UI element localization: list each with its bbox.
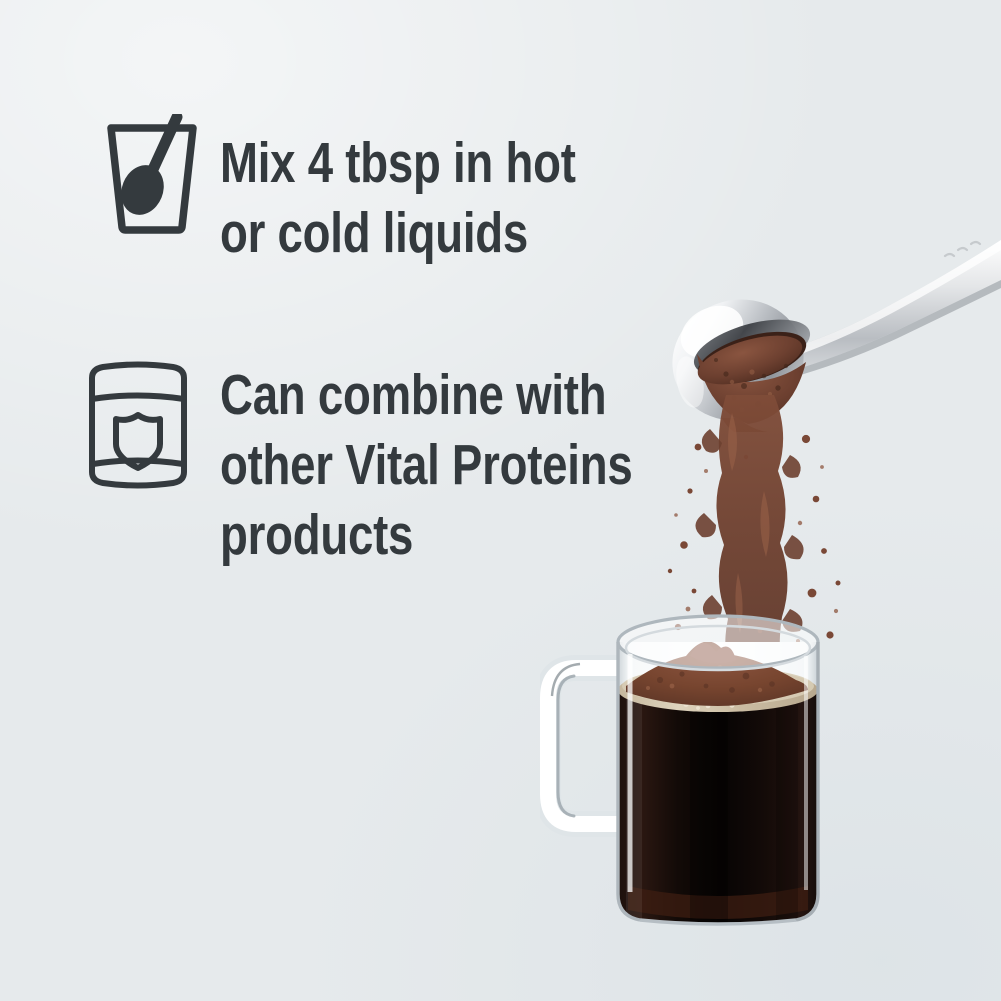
bullet-text-mix-instructions: Mix 4 tbsp in hot or cold liquids	[220, 128, 576, 268]
mug-rim	[618, 616, 818, 670]
infographic-canvas: Mix 4 tbsp in hot or cold liquids Can co…	[0, 0, 1001, 1001]
bullet-row-combine-instructions: Can combine with other Vital Proteins pr…	[82, 352, 736, 570]
supplement-jar-shield-icon	[82, 356, 194, 492]
glass-with-spoon-icon	[100, 114, 204, 234]
bullet-row-mix-instructions: Mix 4 tbsp in hot or cold liquids	[100, 112, 665, 268]
mug-handle	[548, 664, 622, 824]
scoop-handle	[778, 240, 1001, 378]
bullet-text-combine-instructions: Can combine with other Vital Proteins pr…	[220, 360, 632, 570]
clear-glass-mug	[540, 594, 904, 930]
